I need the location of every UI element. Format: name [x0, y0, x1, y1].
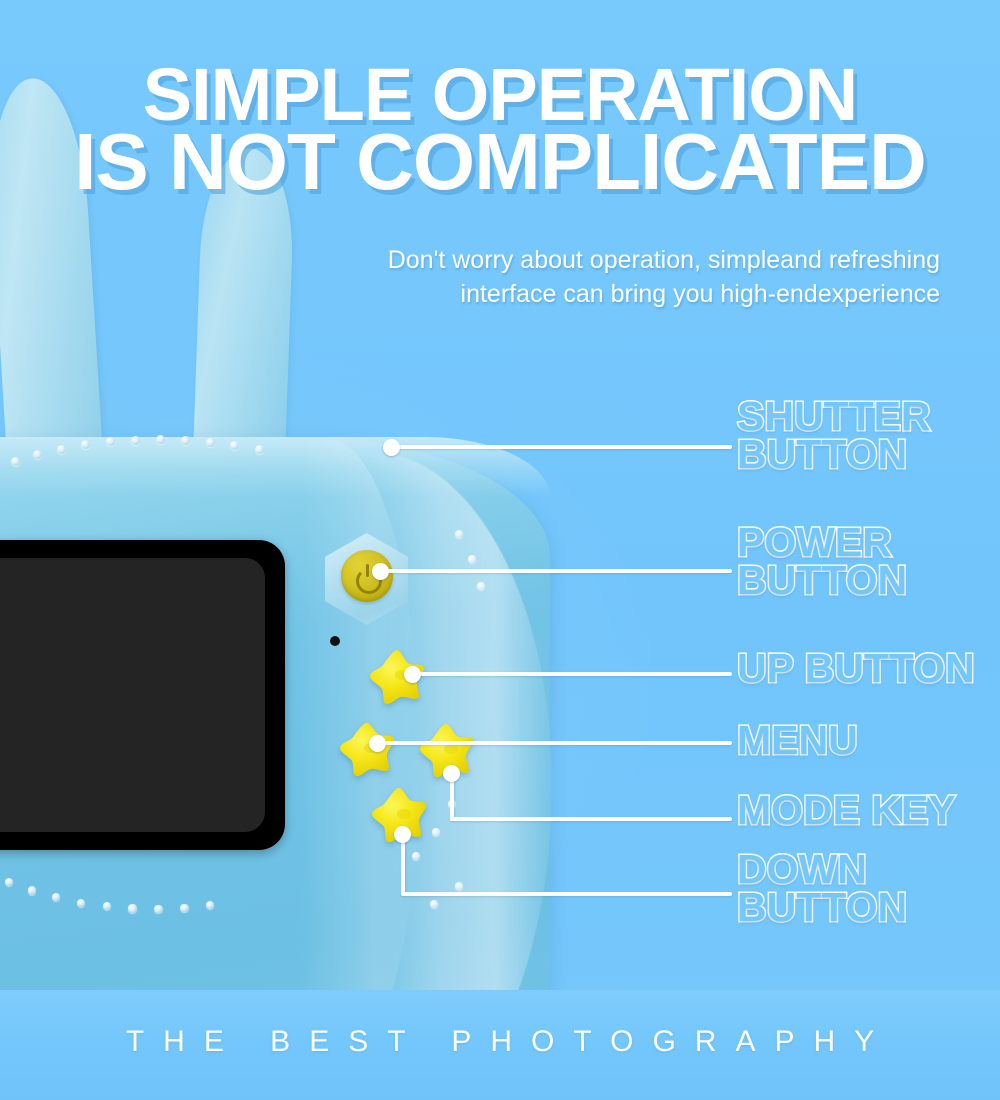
callout-up-line-1: UP BUTTON	[737, 650, 975, 688]
leader-dot-menu	[369, 735, 386, 752]
camera-lcd-panel	[0, 558, 265, 832]
leader-dot-up	[404, 666, 421, 683]
leader-line-shutter	[392, 445, 732, 449]
leader-line-mode-horizontal	[450, 817, 732, 821]
camera-lcd-screen	[0, 540, 285, 850]
leader-line-up	[413, 672, 732, 676]
leader-dot-down	[394, 826, 411, 843]
callout-power-button: POWER BUTTON	[737, 524, 907, 599]
callout-down-line-2: BUTTON	[737, 889, 907, 927]
footer-band	[0, 990, 1000, 1100]
callout-down-button: DOWN BUTTON	[737, 851, 907, 926]
leader-dot-shutter	[383, 439, 400, 456]
microphone-hole-icon	[330, 636, 340, 646]
menu-star-button[interactable]	[337, 720, 399, 780]
callout-shutter-line-2: BUTTON	[737, 436, 931, 474]
callout-shutter-button: SHUTTER BUTTON	[737, 398, 931, 473]
callout-up-button: UP BUTTON	[737, 650, 975, 688]
callout-mode-key: MODE KEY	[737, 792, 956, 830]
callout-menu: MENU	[737, 722, 858, 760]
product-infographic-poster: SIMPLE OPERATION IS NOT COMPLICATED Don'…	[0, 0, 1000, 1100]
leader-line-down-vertical	[401, 834, 405, 896]
leader-line-menu	[378, 741, 732, 745]
leader-dot-power	[372, 563, 389, 580]
leader-line-power	[381, 569, 732, 573]
callout-mode-line-1: MODE KEY	[737, 792, 956, 830]
callout-menu-line-1: MENU	[737, 722, 858, 760]
callout-power-line-2: BUTTON	[737, 562, 907, 600]
leader-line-down-horizontal	[401, 892, 732, 896]
leader-dot-mode	[443, 765, 460, 782]
